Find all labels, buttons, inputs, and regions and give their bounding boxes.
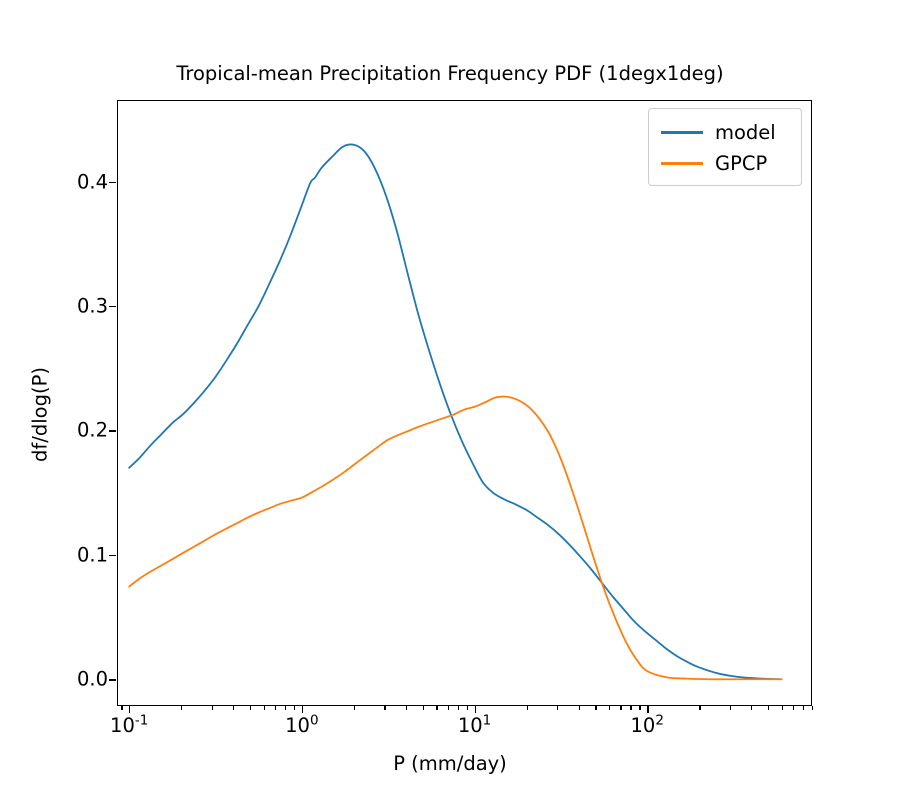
- y-tick-label: 0.1: [48, 543, 108, 566]
- x-tick-mark-minor: [620, 706, 621, 710]
- x-tick-mark-minor: [181, 706, 182, 710]
- x-tick-mark-minor: [782, 706, 783, 710]
- series-line-gpcp: [129, 397, 781, 680]
- x-tick-mark-minor: [121, 706, 122, 710]
- x-axis-label: P (mm/day): [0, 752, 900, 775]
- legend-label: GPCP: [715, 152, 767, 175]
- y-tick-mark: [109, 182, 116, 183]
- y-tick-mark: [109, 430, 116, 431]
- plot-area: [117, 100, 812, 706]
- x-tick-mark-minor: [793, 706, 794, 710]
- x-tick-mark-minor: [294, 706, 295, 710]
- x-tick-mark-minor: [557, 706, 558, 710]
- x-tick-label: 101: [458, 714, 491, 737]
- legend-swatch-model: [661, 131, 703, 134]
- x-tick-mark-major: [302, 706, 303, 713]
- x-tick-label: 10-1: [110, 714, 148, 737]
- x-tick-mark-minor: [803, 706, 804, 710]
- x-tick-mark-minor: [751, 706, 752, 710]
- y-tick-label: 0.4: [48, 170, 108, 193]
- x-tick-mark-minor: [730, 706, 731, 710]
- legend-item-model[interactable]: model: [649, 117, 803, 147]
- x-tick-mark-major: [647, 706, 648, 713]
- y-tick-mark: [109, 306, 116, 307]
- x-tick-mark-minor: [630, 706, 631, 710]
- x-tick-mark-minor: [527, 706, 528, 710]
- x-tick-mark-minor: [595, 706, 596, 710]
- matplotlib-figure: Tropical-mean Precipitation Frequency PD…: [0, 0, 900, 800]
- legend-item-gpcp[interactable]: GPCP: [649, 148, 803, 178]
- x-tick-mark-minor: [458, 706, 459, 710]
- x-tick-mark-minor: [699, 706, 700, 710]
- x-tick-mark-major: [475, 706, 476, 713]
- x-tick-mark-minor: [448, 706, 449, 710]
- legend-label: model: [715, 121, 776, 144]
- y-tick-label: 0.3: [48, 294, 108, 317]
- x-tick-mark-minor: [406, 706, 407, 710]
- x-tick-mark-minor: [354, 706, 355, 710]
- y-tick-mark: [109, 555, 116, 556]
- x-tick-mark-major: [129, 706, 130, 713]
- x-tick-mark-minor: [384, 706, 385, 710]
- x-tick-mark-minor: [579, 706, 580, 710]
- y-tick-label: 0.2: [48, 419, 108, 442]
- x-tick-mark-minor: [812, 706, 813, 710]
- x-tick-mark-minor: [436, 706, 437, 710]
- x-tick-mark-minor: [609, 706, 610, 710]
- legend[interactable]: modelGPCP: [648, 108, 802, 186]
- x-tick-label: 100: [285, 714, 318, 737]
- x-tick-mark-minor: [467, 706, 468, 710]
- x-tick-mark-minor: [768, 706, 769, 710]
- legend-swatch-gpcp: [661, 162, 703, 165]
- x-tick-mark-minor: [212, 706, 213, 710]
- chart-title: Tropical-mean Precipitation Frequency PD…: [0, 62, 900, 85]
- x-tick-mark-minor: [285, 706, 286, 710]
- x-tick-mark-minor: [639, 706, 640, 710]
- x-tick-label: 102: [631, 714, 664, 737]
- x-tick-mark-minor: [275, 706, 276, 710]
- x-tick-mark-minor: [250, 706, 251, 710]
- x-tick-mark-minor: [233, 706, 234, 710]
- y-tick-mark: [109, 679, 116, 680]
- y-axis-tick-labels: 0.00.10.20.30.4: [40, 0, 108, 800]
- series-line-model: [129, 144, 781, 679]
- x-tick-mark-minor: [264, 706, 265, 710]
- x-tick-mark-minor: [423, 706, 424, 710]
- y-tick-label: 0.0: [48, 668, 108, 691]
